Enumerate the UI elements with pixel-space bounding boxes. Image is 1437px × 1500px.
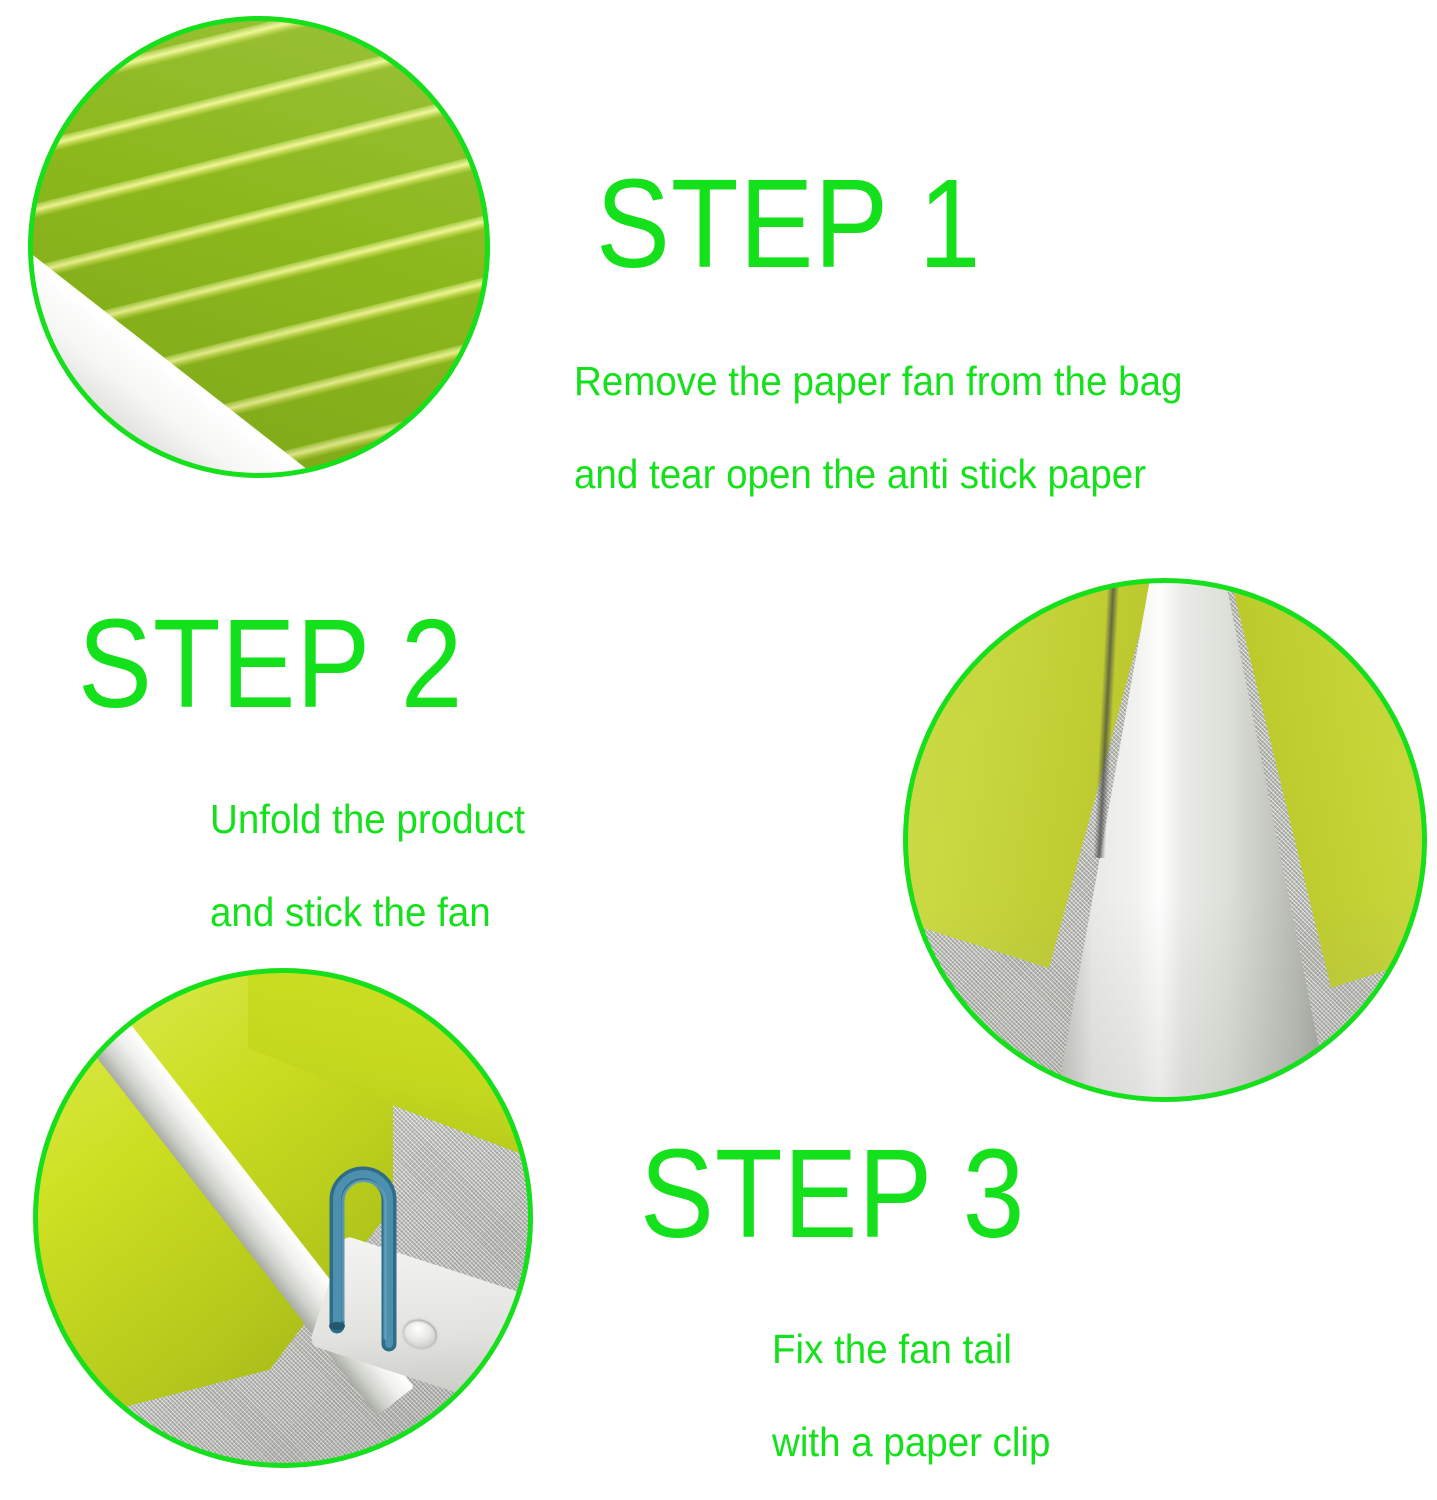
step-1-line-2: and tear open the anti stick paper [574, 454, 1354, 495]
step-1-photo-circle [28, 16, 490, 478]
step-1-title: STEP 1 [596, 160, 1307, 289]
step-3-text-block: STEP 3 Fix the fan tail with a paper cli… [640, 1130, 1380, 1463]
step-2-line-1: Unfold the product [210, 799, 744, 840]
step-2-line-2: and stick the fan [210, 892, 744, 933]
step-2-photo-circle [903, 578, 1427, 1102]
step-1-text-block: STEP 1 Remove the paper fan from the bag… [574, 160, 1404, 495]
paper-clip-icon [301, 1148, 431, 1358]
step-1-photo-inner [28, 16, 490, 478]
step-2-photo-inner [903, 578, 1427, 1102]
step-3-photo-circle [33, 968, 533, 1468]
instruction-poster: STEP 1 Remove the paper fan from the bag… [0, 0, 1437, 1500]
step-3-photo-inner [33, 968, 533, 1468]
step-2-title: STEP 2 [78, 600, 694, 729]
step-1-line-1: Remove the paper fan from the bag [574, 361, 1354, 402]
step-3-line-2: with a paper clip [772, 1422, 1344, 1463]
step-3-line-1: Fix the fan tail [772, 1329, 1344, 1370]
step-3-title: STEP 3 [640, 1130, 1291, 1259]
lower-fabric-shading [903, 898, 1427, 1102]
step-2-text-block: STEP 2 Unfold the product and stick the … [78, 600, 778, 933]
